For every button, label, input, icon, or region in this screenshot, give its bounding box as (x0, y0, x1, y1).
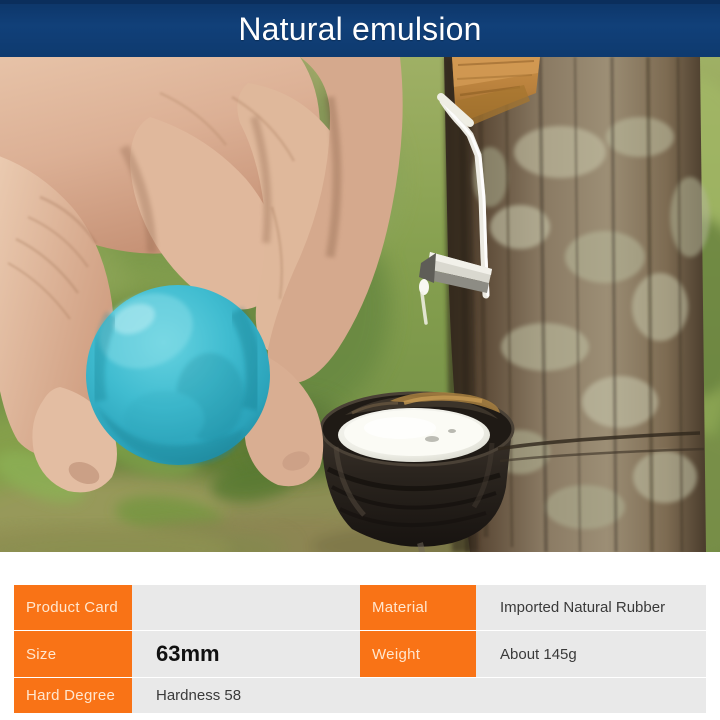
spec-value-size: 63mm (132, 631, 360, 678)
table-row: Hard Degree Hardness 58 (14, 678, 706, 713)
table-row: Size 63mm Weight About 145g (14, 631, 706, 678)
spec-label-hard-degree: Hard Degree (14, 678, 132, 713)
product-infographic: Natural emulsion (0, 0, 720, 720)
table-row: Product Card Material Imported Natural R… (14, 585, 706, 631)
spec-label-material: Material (360, 585, 476, 631)
spec-value-hard-degree: Hardness 58 (132, 678, 706, 713)
page-title: Natural emulsion (238, 13, 481, 45)
photo-illustration (0, 57, 720, 552)
spec-value-material: Imported Natural Rubber (476, 585, 706, 631)
spec-value-product-card (132, 585, 360, 631)
spec-label-size: Size (14, 631, 132, 678)
spec-value-weight: About 145g (476, 631, 706, 678)
photo-table-gap (0, 552, 720, 585)
product-photo (0, 57, 720, 552)
product-spec-table: Product Card Material Imported Natural R… (14, 585, 706, 713)
spec-label-weight: Weight (360, 631, 476, 678)
header-banner: Natural emulsion (0, 0, 720, 57)
spec-label-product-card: Product Card (14, 585, 132, 631)
